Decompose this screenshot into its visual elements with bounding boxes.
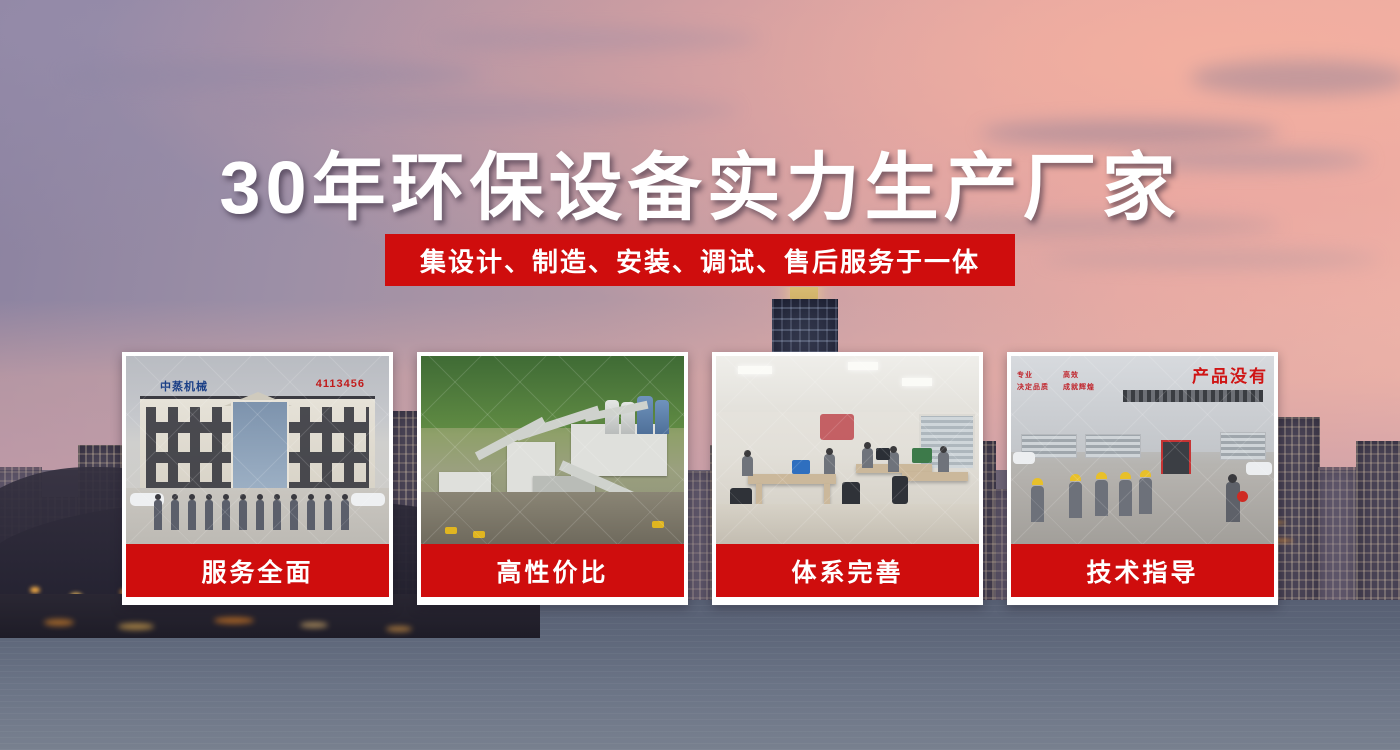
factory-sign-text: 产品没有: [1192, 362, 1268, 387]
factory-sign-sub: 成就辉煌: [1063, 382, 1095, 392]
card-photo-office-building: 中蒸机械 4113456: [126, 356, 389, 544]
cloud-shape: [60, 60, 480, 90]
cloud-shape: [430, 28, 760, 50]
subtitle-text: 集设计、制造、安装、调试、售后服务于一体: [420, 242, 980, 279]
card-caption-text: 服务全面: [201, 553, 313, 589]
factory-sign-small: 高效: [1063, 370, 1079, 380]
cloud-shape: [1040, 250, 1380, 268]
card-caption-text: 技术指导: [1086, 553, 1198, 589]
page-title: 30年环保设备实力生产厂家: [0, 128, 1400, 235]
feature-card-list: 中蒸机械 4113456 服务全面: [122, 352, 1278, 605]
hero-banner: 30年环保设备实力生产厂家 集设计、制造、安装、调试、售后服务于一体 中蒸机械 …: [0, 0, 1400, 750]
wall-decoration: [820, 414, 854, 440]
card-photo-industrial-plant: [421, 356, 684, 544]
subtitle-banner: 集设计、制造、安装、调试、售后服务于一体: [385, 234, 1015, 286]
card-photo-office-interior: [716, 356, 979, 544]
feature-card[interactable]: 高性价比: [417, 352, 688, 605]
card-caption-bar: 服务全面: [126, 544, 389, 597]
building-phone-text: 4113456: [316, 378, 365, 390]
card-caption-text: 体系完善: [791, 553, 903, 589]
factory-sign-small: 专业: [1017, 370, 1033, 380]
feature-card[interactable]: 体系完善: [712, 352, 983, 605]
feature-card[interactable]: 中蒸机械 4113456 服务全面: [122, 352, 393, 605]
card-caption-text: 高性价比: [496, 553, 608, 589]
red-helmet: [1237, 491, 1248, 502]
card-caption-bar: 高性价比: [421, 544, 684, 597]
card-caption-bar: 技术指导: [1011, 544, 1274, 597]
cloud-shape: [220, 98, 740, 122]
building-sign-text: 中蒸机械: [160, 378, 208, 394]
cloud-shape: [1190, 60, 1400, 96]
feature-card[interactable]: 产品没有 专业 高效 决定品质 成就辉煌: [1007, 352, 1278, 605]
card-caption-bar: 体系完善: [716, 544, 979, 597]
card-photo-workers-factory: 产品没有 专业 高效 决定品质 成就辉煌: [1011, 356, 1274, 544]
factory-sign-sub: 决定品质: [1017, 382, 1049, 392]
